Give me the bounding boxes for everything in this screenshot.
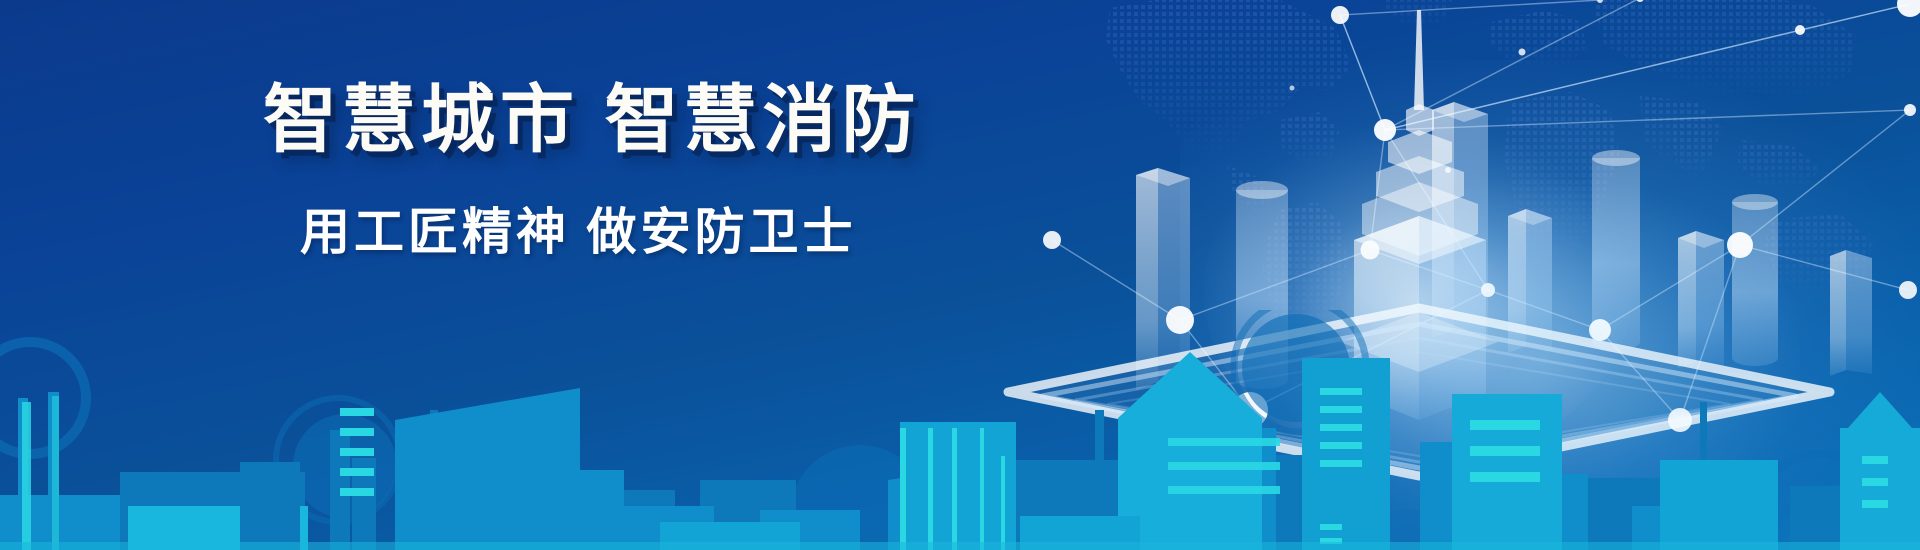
page-title: 智慧城市 智慧消防: [263, 72, 921, 168]
promo-banner: 智慧城市 智慧消防 用工匠精神 做安防卫士: [0, 0, 1920, 550]
city-skyline-graphic: [0, 310, 1920, 550]
page-subtitle: 用工匠精神 做安防卫士: [300, 199, 857, 265]
